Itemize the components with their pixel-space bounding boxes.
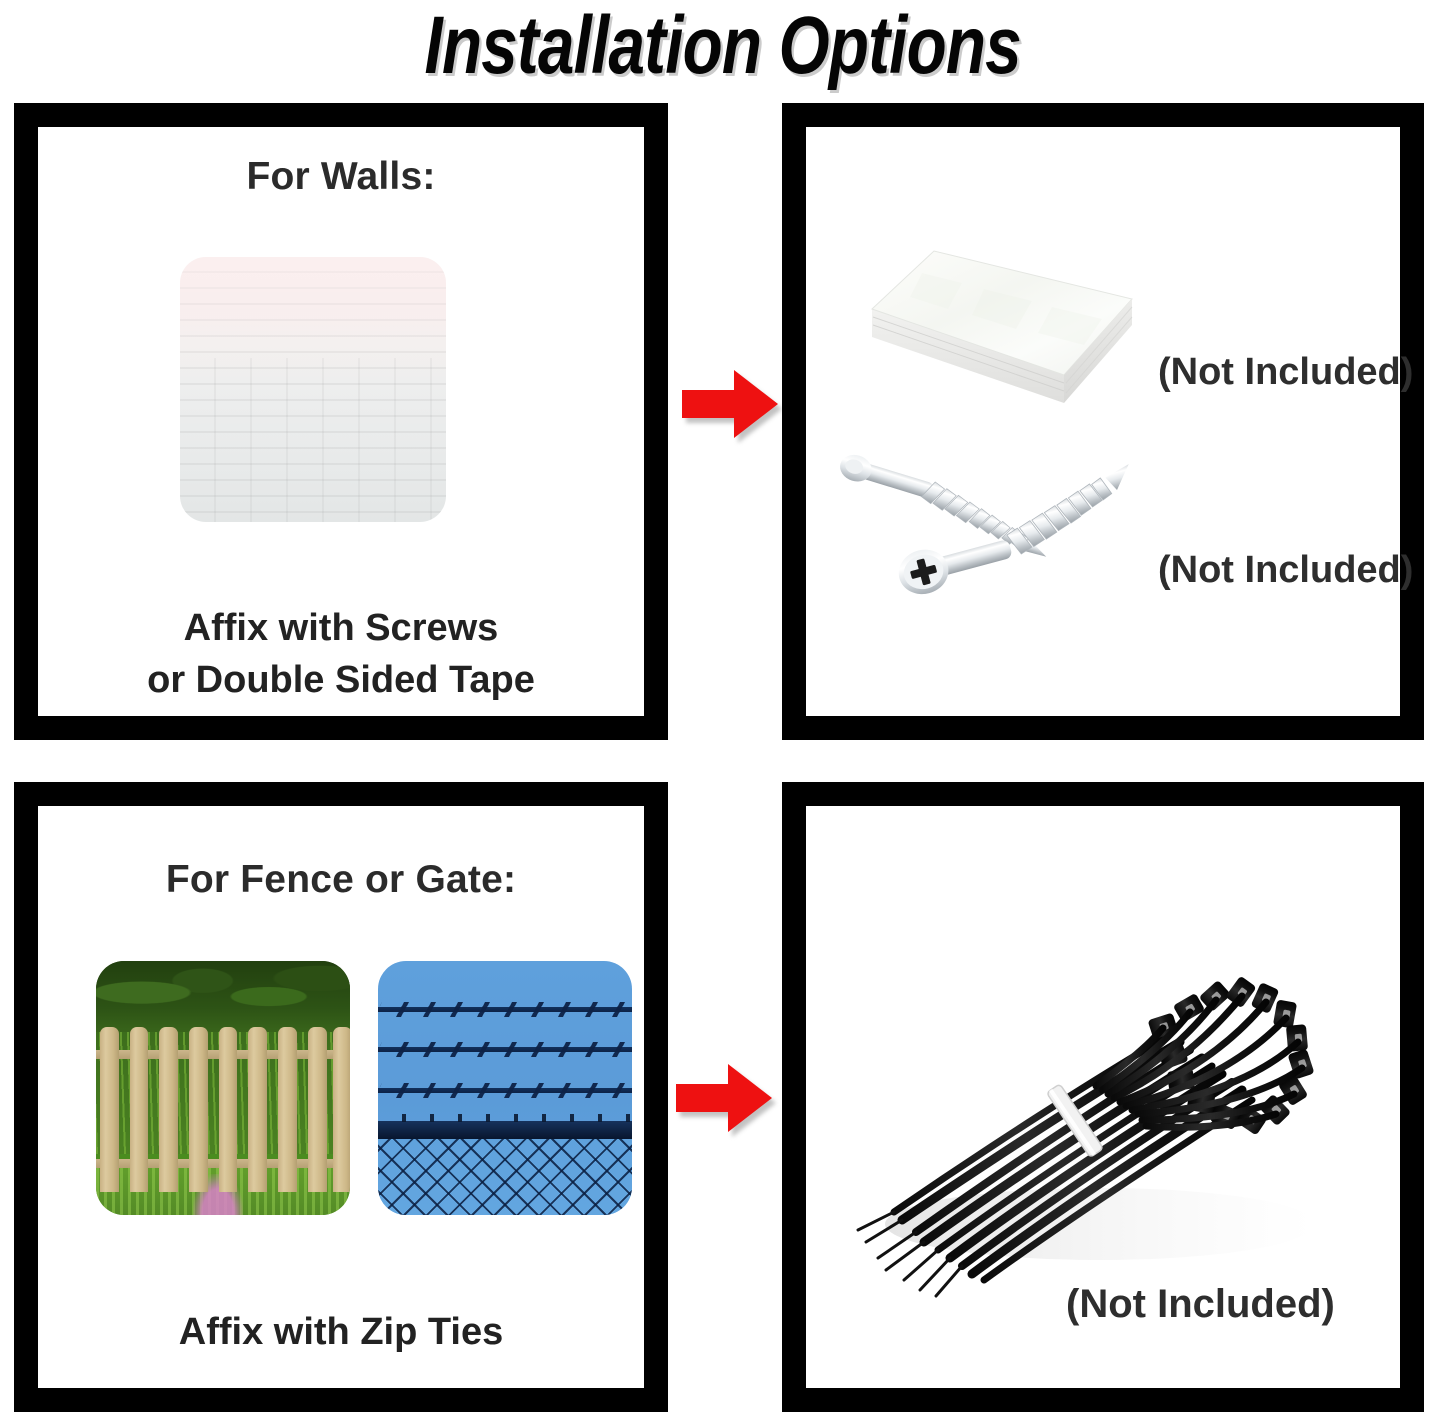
panel-fence-heading: For Fence or Gate:	[38, 858, 644, 902]
screws-not-included-label: (Not Included)	[1158, 549, 1413, 592]
chain-link-mesh	[378, 1139, 632, 1215]
barbed-wire-strand-3	[378, 1088, 632, 1093]
wall-highlight	[180, 257, 446, 522]
black-zip-ties-bundle-photo	[850, 924, 1350, 1324]
barbed-wire-strand-1	[378, 1007, 632, 1012]
panel-for-walls: For Walls: Affix with Screws or Double S…	[14, 103, 668, 740]
double-sided-tape-stack-photo	[864, 237, 1140, 405]
panel-fence-caption: Affix with Zip Ties	[38, 1306, 644, 1358]
silver-wood-screws-photo	[832, 445, 1162, 620]
tape-not-included-label: (Not Included)	[1158, 351, 1413, 394]
chain-link-barbed-wire-fence-photo	[378, 961, 632, 1215]
panel-walls-heading: For Walls:	[38, 155, 644, 199]
ziptie-not-included-label: (Not Included)	[1066, 1282, 1335, 1327]
title-bar: Installation Options	[0, 0, 1445, 92]
fence-top-rail	[378, 1121, 632, 1139]
red-right-arrow-walls	[682, 368, 778, 440]
page-title: Installation Options	[424, 5, 1020, 87]
panel-wall-hardware: (Not Included)	[782, 103, 1424, 740]
panel-for-fence-or-gate: For Fence or Gate:	[14, 782, 668, 1412]
panel-fence-hardware: (Not Included)	[782, 782, 1424, 1412]
white-brick-wall-photo	[180, 257, 446, 522]
panel-walls-caption-line2: or Double Sided Tape	[38, 654, 644, 706]
red-right-arrow-fence	[676, 1062, 772, 1134]
picket-boards	[96, 1027, 350, 1215]
panel-walls-caption-line1: Affix with Screws	[38, 602, 644, 654]
barbed-wire-strand-2	[378, 1047, 632, 1052]
wooden-picket-fence-photo	[96, 961, 350, 1215]
